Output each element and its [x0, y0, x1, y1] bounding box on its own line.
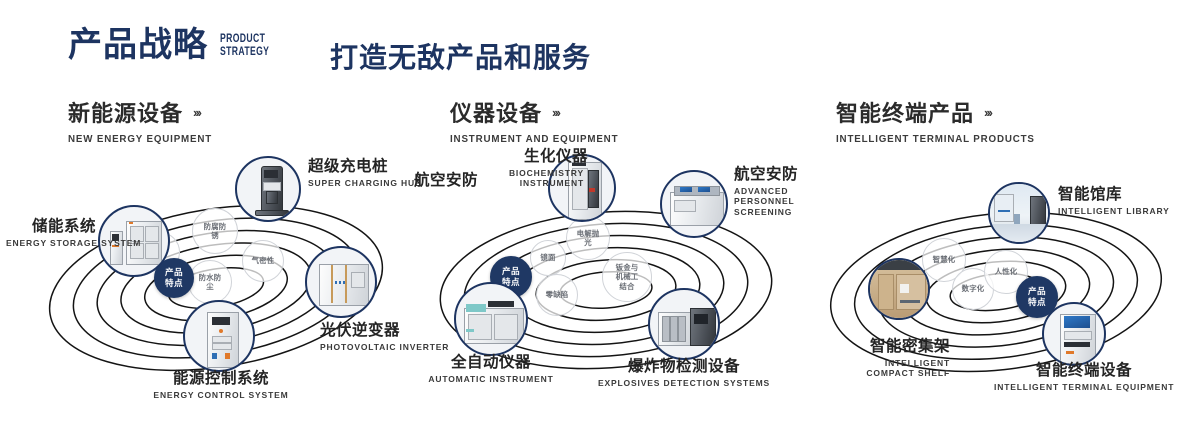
- intelligent-compact-shelf-icon: [870, 260, 928, 318]
- feature-bubble-label: 防水防尘: [197, 273, 223, 292]
- product-label-cn: 生化仪器: [484, 148, 628, 166]
- product-circle-energy-control-system[interactable]: [183, 300, 255, 372]
- product-label-energy-storage-system: 储能系统 ENERGY STORAGE SYSTEM: [6, 218, 96, 248]
- product-label-cn: 智能密集架: [782, 338, 950, 356]
- product-strategy-infographic: 产品战略 PRODUCT STRATEGY 打造无敌产品和服务 新能源设备 ››…: [0, 0, 1200, 422]
- feature-bubble: 镜面: [530, 240, 566, 276]
- feature-bubble: 电解抛光: [566, 216, 610, 260]
- section-title-intelligent-terminal: 智能终端产品 ››› INTELLIGENT TERMINAL PRODUCTS: [836, 96, 1050, 145]
- explosives-detection-icon: [650, 290, 718, 358]
- section-title-en: INTELLIGENT TERMINAL PRODUCTS: [836, 133, 1035, 145]
- product-label-en: INTELLIGENT COMPACT SHELF: [840, 358, 950, 379]
- feature-bubble: 防水防尘: [188, 260, 232, 304]
- product-label-cn: 全自动仪器: [410, 354, 572, 372]
- feature-bubble: 气密性: [242, 240, 284, 282]
- product-label-en: AUTOMATIC INSTRUMENT: [410, 374, 572, 385]
- section-title-new-energy: 新能源设备 ››› NEW ENERGY EQUIPMENT: [68, 96, 223, 145]
- feature-bubble-label: 电解抛光: [576, 229, 600, 248]
- core-bubble-line1: 产品: [502, 266, 520, 277]
- core-bubble-line1: 产品: [1028, 286, 1046, 297]
- section-title-cn: 新能源设备 ›››: [68, 96, 223, 128]
- product-label-energy-control-system: 能源控制系统 ENERGY CONTROL SYSTEM: [136, 370, 306, 400]
- section-title-text: 仪器设备: [450, 96, 542, 128]
- feature-bubble-label: 防腐防锈: [202, 222, 228, 241]
- stray-label-aviation-security: 航空安防: [398, 172, 478, 190]
- product-circle-intelligent-compact-shelf[interactable]: [868, 258, 930, 320]
- feature-bubble-label: 零缺陷: [544, 290, 570, 299]
- product-label-en: EXPLOSIVES DETECTION SYSTEMS: [596, 378, 772, 389]
- cluster-new-energy: 户外 防腐防锈 防水防尘 气密性 产品 特点: [20, 150, 420, 420]
- product-circle-super-charging-hub[interactable]: [235, 156, 301, 222]
- feature-bubble: 防腐防锈: [192, 208, 238, 254]
- product-label-cn: 智能终端设备: [994, 362, 1174, 380]
- core-bubble-line2: 特点: [165, 278, 183, 289]
- product-label-en: INTELLIGENT LIBRARY: [1058, 206, 1170, 217]
- section-title-text: 智能终端产品: [836, 96, 974, 128]
- product-label-intelligent-compact-shelf: 智能密集架 INTELLIGENT COMPACT SHELF: [782, 338, 950, 379]
- product-label-intelligent-library: 智能馆库 INTELLIGENT LIBRARY: [1058, 186, 1170, 216]
- product-label-automatic-instrument: 全自动仪器 AUTOMATIC INSTRUMENT: [410, 354, 572, 384]
- product-label-cn: 爆炸物检测设备: [596, 358, 772, 376]
- super-charging-hub-icon: [237, 158, 299, 220]
- product-label-cn: 储能系统: [6, 218, 96, 236]
- chevron-right-icon: ›››: [984, 105, 991, 120]
- product-circle-automatic-instrument[interactable]: [454, 282, 528, 356]
- product-label-en: ENERGY CONTROL SYSTEM: [136, 390, 306, 401]
- product-label-cn: 能源控制系统: [136, 370, 306, 388]
- feature-bubble-label: 数字化: [962, 284, 985, 293]
- brand-block: 产品战略 PRODUCT STRATEGY: [68, 28, 288, 62]
- chevron-right-icon: ›››: [552, 105, 559, 120]
- automatic-instrument-icon: [456, 284, 526, 354]
- product-circle-explosives-detection[interactable]: [648, 288, 720, 360]
- product-label-en: BIOCHEMISTRY INSTRUMENT: [498, 168, 584, 189]
- cluster-instrument: 镜面 电解抛光 零缺陷 钣金与机械工结合 产品 特点 航空安防: [408, 150, 808, 420]
- section-title-instrument: 仪器设备 ››› INSTRUMENT AND EQUIPMENT: [450, 96, 631, 145]
- photovoltaic-inverter-icon: [307, 248, 375, 316]
- feature-bubble-label: 气密性: [249, 256, 277, 265]
- feature-bubble-label: 镜面: [540, 253, 555, 262]
- brand-en-line1: PRODUCT: [220, 32, 269, 45]
- intelligent-terminal-equipment-icon: [1044, 304, 1104, 364]
- section-title-cn: 智能终端产品 ›››: [836, 96, 1050, 128]
- section-title-en: NEW ENERGY EQUIPMENT: [68, 133, 212, 145]
- feature-bubble-label: 智慧化: [933, 255, 956, 264]
- feature-bubble: 钣金与机械工结合: [602, 252, 652, 302]
- intelligent-library-icon: [990, 184, 1048, 242]
- headline: 打造无敌产品和服务: [330, 36, 591, 76]
- chevron-right-icon: ›››: [193, 105, 200, 120]
- product-label-en: INTELLIGENT TERMINAL EQUIPMENT: [994, 382, 1174, 393]
- personnel-screening-icon: [662, 172, 726, 236]
- product-circle-photovoltaic-inverter[interactable]: [305, 246, 377, 318]
- feature-bubble-label: 钣金与机械工结合: [612, 263, 642, 291]
- product-label-en: ENERGY STORAGE SYSTEM: [6, 238, 96, 249]
- product-circle-intelligent-library[interactable]: [988, 182, 1050, 244]
- brand-en-line2: STRATEGY: [220, 45, 269, 58]
- product-label-intelligent-terminal-equipment: 智能终端设备 INTELLIGENT TERMINAL EQUIPMENT: [994, 362, 1174, 392]
- stray-label-cn: 航空安防: [398, 172, 478, 190]
- brand-title-cn: 产品战略: [68, 28, 208, 62]
- product-circle-intelligent-terminal-equipment[interactable]: [1042, 302, 1106, 366]
- product-label-explosives-detection: 爆炸物检测设备 EXPLOSIVES DETECTION SYSTEMS: [596, 358, 772, 388]
- header: 产品战略 PRODUCT STRATEGY 打造无敌产品和服务: [0, 0, 1200, 90]
- product-circle-personnel-screening[interactable]: [660, 170, 728, 238]
- energy-control-system-icon: [185, 302, 253, 370]
- cluster-intelligent-terminal: 智慧化 数字化 人性化 产品 特点 智能馆库 INTELLIG: [800, 150, 1200, 420]
- section-title-cn: 仪器设备 ›››: [450, 96, 631, 128]
- brand-title-en: PRODUCT STRATEGY: [220, 32, 269, 57]
- feature-bubble: 零缺陷: [536, 274, 578, 316]
- feature-bubble-label: 人性化: [995, 267, 1018, 276]
- section-title-text: 新能源设备: [68, 96, 183, 128]
- product-label-cn: 智能馆库: [1058, 186, 1170, 204]
- section-title-en: INSTRUMENT AND EQUIPMENT: [450, 133, 618, 145]
- product-label-biochemistry-instrument: 生化仪器 BIOCHEMISTRY INSTRUMENT: [538, 148, 628, 189]
